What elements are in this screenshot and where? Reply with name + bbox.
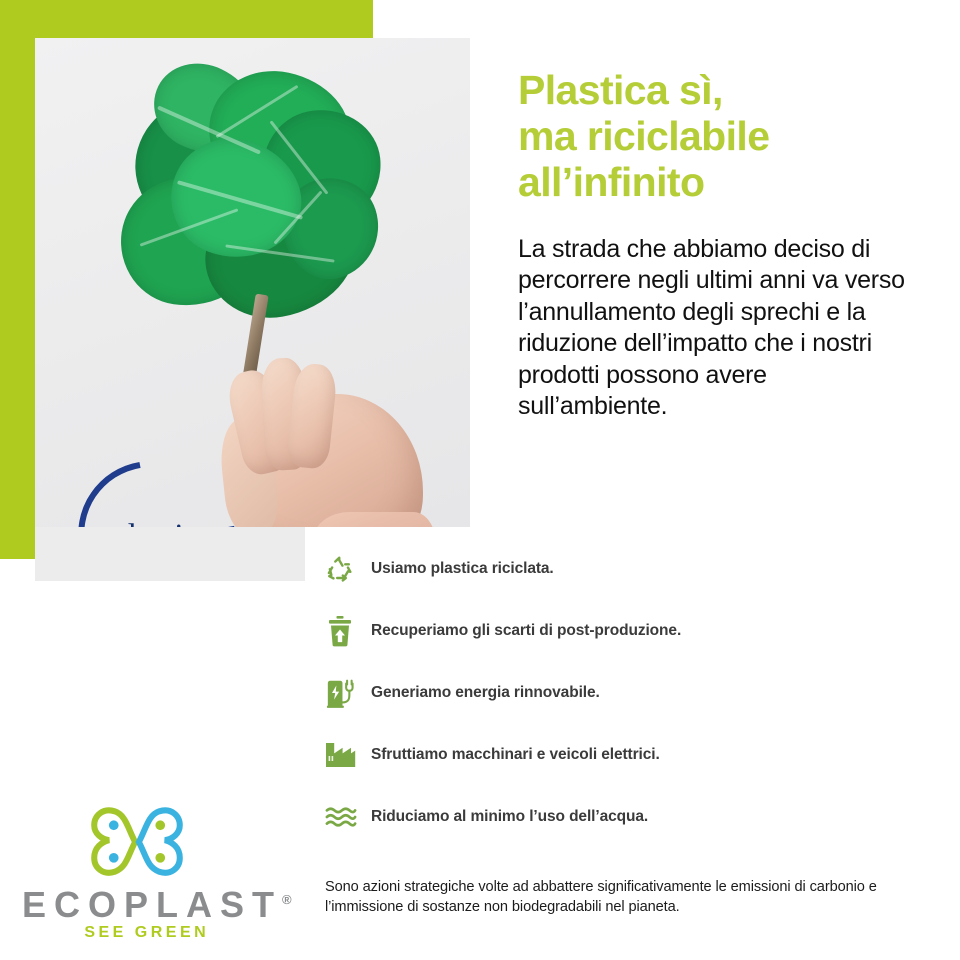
ecoplast-butterfly-icon — [88, 802, 186, 882]
benefit-list: Usiamo plastica riciclata. Recuperiamo g… — [325, 538, 925, 848]
content-column: Plastica sì, ma riciclabile all’infinito… — [518, 68, 918, 423]
ecoplast-logo: ECOPLAST® SEE GREEN — [14, 798, 276, 948]
list-item: Usiamo plastica riciclata. — [325, 538, 925, 600]
ev-charging-icon — [325, 671, 371, 715]
poster: ,plastica seconda vita Plastica sì, ma r… — [0, 0, 960, 960]
lede-paragraph: La strada che abbiamo deciso di percorre… — [518, 234, 908, 423]
list-item: Recuperiamo gli scarti di post-produzion… — [325, 600, 925, 662]
list-item-label: Usiamo plastica riciclata. — [371, 560, 554, 578]
water-waves-icon — [325, 795, 371, 839]
list-item: Generiamo energia rinnovabile. — [325, 662, 925, 724]
footnote-paragraph: Sono azioni strategiche volte ad abbatte… — [325, 877, 910, 918]
registered-trademark-symbol: ® — [282, 892, 292, 907]
list-item-label: Sfruttiamo macchinari e veicoli elettric… — [371, 746, 660, 764]
factory-icon — [325, 733, 371, 777]
recycle-icon — [325, 547, 371, 591]
ecoplast-tagline: SEE GREEN — [14, 924, 276, 942]
hero-photo: ,plastica seconda vita — [35, 38, 470, 527]
list-item: Riduciamo al minimo l’uso dell’acqua. — [325, 786, 925, 848]
list-item: Sfruttiamo macchinari e veicoli elettric… — [325, 724, 925, 786]
list-item-label: Recuperiamo gli scarti di post-produzion… — [371, 622, 681, 640]
photo-panel-extension — [35, 527, 305, 581]
list-item-label: Generiamo energia rinnovabile. — [371, 684, 600, 702]
plastic-tree-foliage — [113, 66, 383, 316]
accent-bar-left — [0, 0, 38, 559]
accent-bar-top — [0, 0, 373, 38]
plastica-seconda-vita-logo: ,plastica seconda vita — [77, 462, 237, 527]
list-item-label: Riduciamo al minimo l’uso dell’acqua. — [371, 808, 648, 826]
bin-recover-icon — [325, 609, 371, 653]
ecoplast-wordmark: ECOPLAST® — [14, 884, 276, 926]
ecoplast-wordmark-text: ECOPLAST — [22, 884, 282, 925]
plastica-logo-word: ,plastica — [83, 518, 233, 527]
page-title: Plastica sì, ma riciclabile all’infinito — [518, 68, 918, 206]
hand — [217, 350, 432, 527]
headline-line-2: ma riciclabile — [518, 113, 769, 159]
headline-line-1: Plastica sì, — [518, 67, 723, 113]
headline-line-3: all’infinito — [518, 159, 704, 205]
